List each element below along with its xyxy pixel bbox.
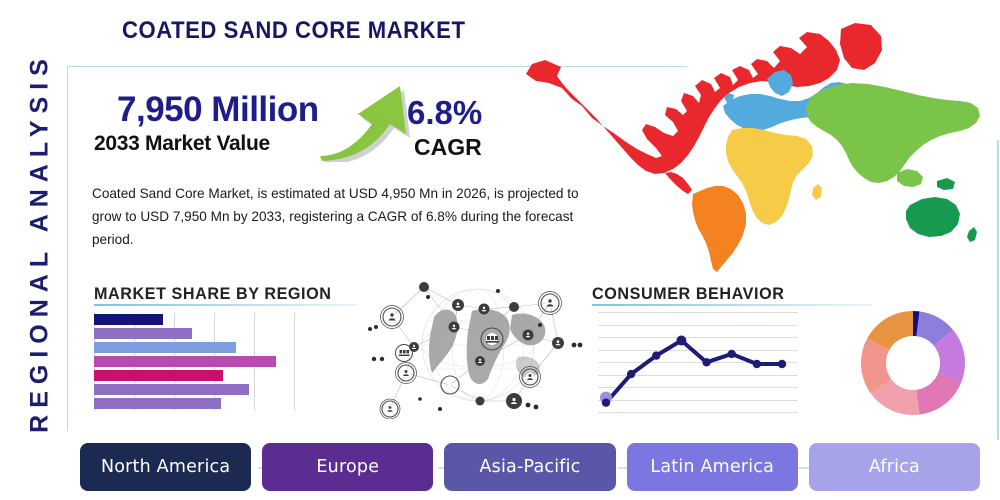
market-share-underline [94, 304, 358, 306]
region-pill-label: Europe [316, 457, 379, 477]
cagr-label: CAGR [414, 134, 482, 161]
region-pill-asia-pacific[interactable]: Asia-Pacific [444, 443, 615, 491]
map-region-southeast-asia [897, 169, 923, 187]
region-pill-latin-america[interactable]: Latin America [627, 443, 798, 491]
market-share-section-title: MARKET SHARE BY REGION [94, 284, 331, 304]
line-marker-3 [652, 351, 660, 359]
map-region-png [937, 178, 955, 190]
map-region-new-zealand [967, 227, 977, 242]
consumer-behavior-donut-chart [858, 308, 968, 418]
region-pill-europe[interactable]: Europe [262, 443, 433, 491]
infographic-root: REGIONAL ANALYSIS COATED SAND CORE MARKE… [0, 0, 1000, 500]
bar-row [94, 342, 294, 353]
bar-4 [94, 356, 276, 367]
map-region-central-america [665, 172, 692, 194]
map-region-greenland [840, 23, 882, 70]
consumer-behavior-line-chart [598, 312, 798, 412]
page-title: COATED SAND CORE MARKET [122, 17, 465, 45]
region-pill-label: Asia-Pacific [480, 457, 581, 477]
right-frame-border [997, 140, 999, 440]
line-marker-6 [728, 350, 736, 358]
line-marker-1 [602, 398, 610, 406]
map-region-australia [906, 197, 960, 237]
region-pill-label: Latin America [650, 457, 774, 477]
line-marker-2 [627, 370, 635, 378]
market-value-label: 2033 Market Value [94, 132, 270, 156]
donut-slices [858, 308, 968, 418]
bar-6 [94, 384, 249, 395]
map-region-madagascar [812, 184, 822, 200]
region-pill-group: North AmericaEuropeAsia-PacificLatin Ame… [80, 443, 980, 491]
vertical-section-label: REGIONAL ANALYSIS [26, 33, 55, 453]
bar-7 [94, 398, 221, 409]
bar-row [94, 314, 294, 325]
region-pill-label: Africa [869, 457, 920, 477]
map-region-asia [806, 83, 980, 183]
hero-stats: 7,950 Million 2033 Market Value 6.8% CAG… [92, 90, 592, 170]
market-description: Coated Sand Core Market, is estimated at… [92, 182, 592, 251]
bar-row [94, 370, 294, 381]
global-network-illustration [362, 281, 590, 419]
region-pill-label: North America [101, 457, 230, 477]
line-marker-8 [778, 360, 786, 368]
consumer-behavior-underline [592, 304, 872, 306]
bar-gridline [294, 313, 295, 411]
bar-1 [94, 314, 163, 325]
line-marker-5 [702, 358, 710, 366]
market-value-number: 7,950 Million [117, 90, 319, 130]
bar-row [94, 328, 294, 339]
consumer-behavior-section-title: CONSUMER BEHAVIOR [592, 284, 784, 304]
line-marker-7 [753, 360, 761, 368]
line-series [598, 312, 798, 412]
market-share-bar-chart [94, 313, 294, 411]
cagr-value: 6.8% [407, 94, 482, 132]
bar-5 [94, 370, 223, 381]
bar-3 [94, 342, 236, 353]
bar-2 [94, 328, 192, 339]
line-gridline [598, 412, 798, 413]
bar-row [94, 384, 294, 395]
line-marker-4 [676, 335, 686, 345]
bar-row [94, 356, 294, 367]
region-pill-north-america[interactable]: North America [80, 443, 251, 491]
region-pill-africa[interactable]: Africa [809, 443, 980, 491]
bar-row [94, 398, 294, 409]
map-region-south-america [692, 186, 746, 272]
